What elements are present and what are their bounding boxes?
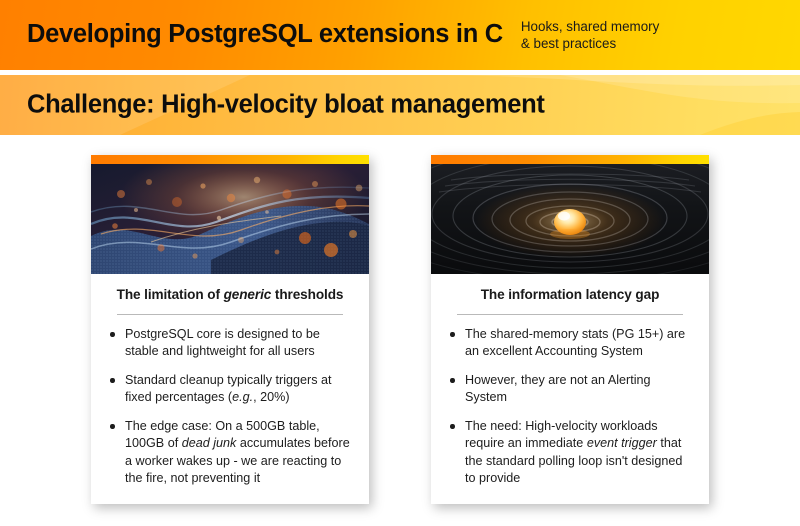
card-heading: The limitation of generic thresholds xyxy=(105,287,355,304)
card-body: The information latency gap The shared-m… xyxy=(431,274,709,504)
page-title: Developing PostgreSQL extensions in C xyxy=(27,22,503,48)
list-item: The need: High-velocity workloads requir… xyxy=(445,418,695,488)
card-accent-bar xyxy=(91,155,369,164)
challenge-banner-title: Challenge: High-velocity bloat managemen… xyxy=(27,92,545,118)
challenge-banner: Challenge: High-velocity bloat managemen… xyxy=(0,75,800,135)
header-subtitle: Hooks, shared memory & best practices xyxy=(521,18,659,52)
card-divider xyxy=(457,314,683,315)
list-item: The edge case: On a 500GB table, 100GB o… xyxy=(105,418,355,488)
card-information-latency-gap: The information latency gap The shared-m… xyxy=(431,155,709,504)
card-divider xyxy=(117,314,343,315)
dark-concentric-ripple-glowing-sphere-image xyxy=(431,164,709,274)
list-item: Standard cleanup typically triggers at f… xyxy=(105,372,355,407)
abstract-blue-orange-wave-dots-image xyxy=(91,164,369,274)
card-body: The limitation of generic thresholds Pos… xyxy=(91,274,369,504)
header-subtitle-line-1: Hooks, shared memory xyxy=(521,18,659,35)
header-banner: Developing PostgreSQL extensions in C Ho… xyxy=(0,0,800,70)
list-item: However, they are not an Alerting System xyxy=(445,372,695,407)
card-bullet-list: PostgreSQL core is designed to be stable… xyxy=(105,326,355,488)
card-heading: The information latency gap xyxy=(445,287,695,304)
list-item: The shared-memory stats (PG 15+) are an … xyxy=(445,326,695,361)
header-subtitle-line-2: & best practices xyxy=(521,35,659,52)
card-generic-thresholds: The limitation of generic thresholds Pos… xyxy=(91,155,369,504)
cards-area: The limitation of generic thresholds Pos… xyxy=(0,135,800,526)
card-accent-bar xyxy=(431,155,709,164)
card-bullet-list: The shared-memory stats (PG 15+) are an … xyxy=(445,326,695,488)
list-item: PostgreSQL core is designed to be stable… xyxy=(105,326,355,361)
